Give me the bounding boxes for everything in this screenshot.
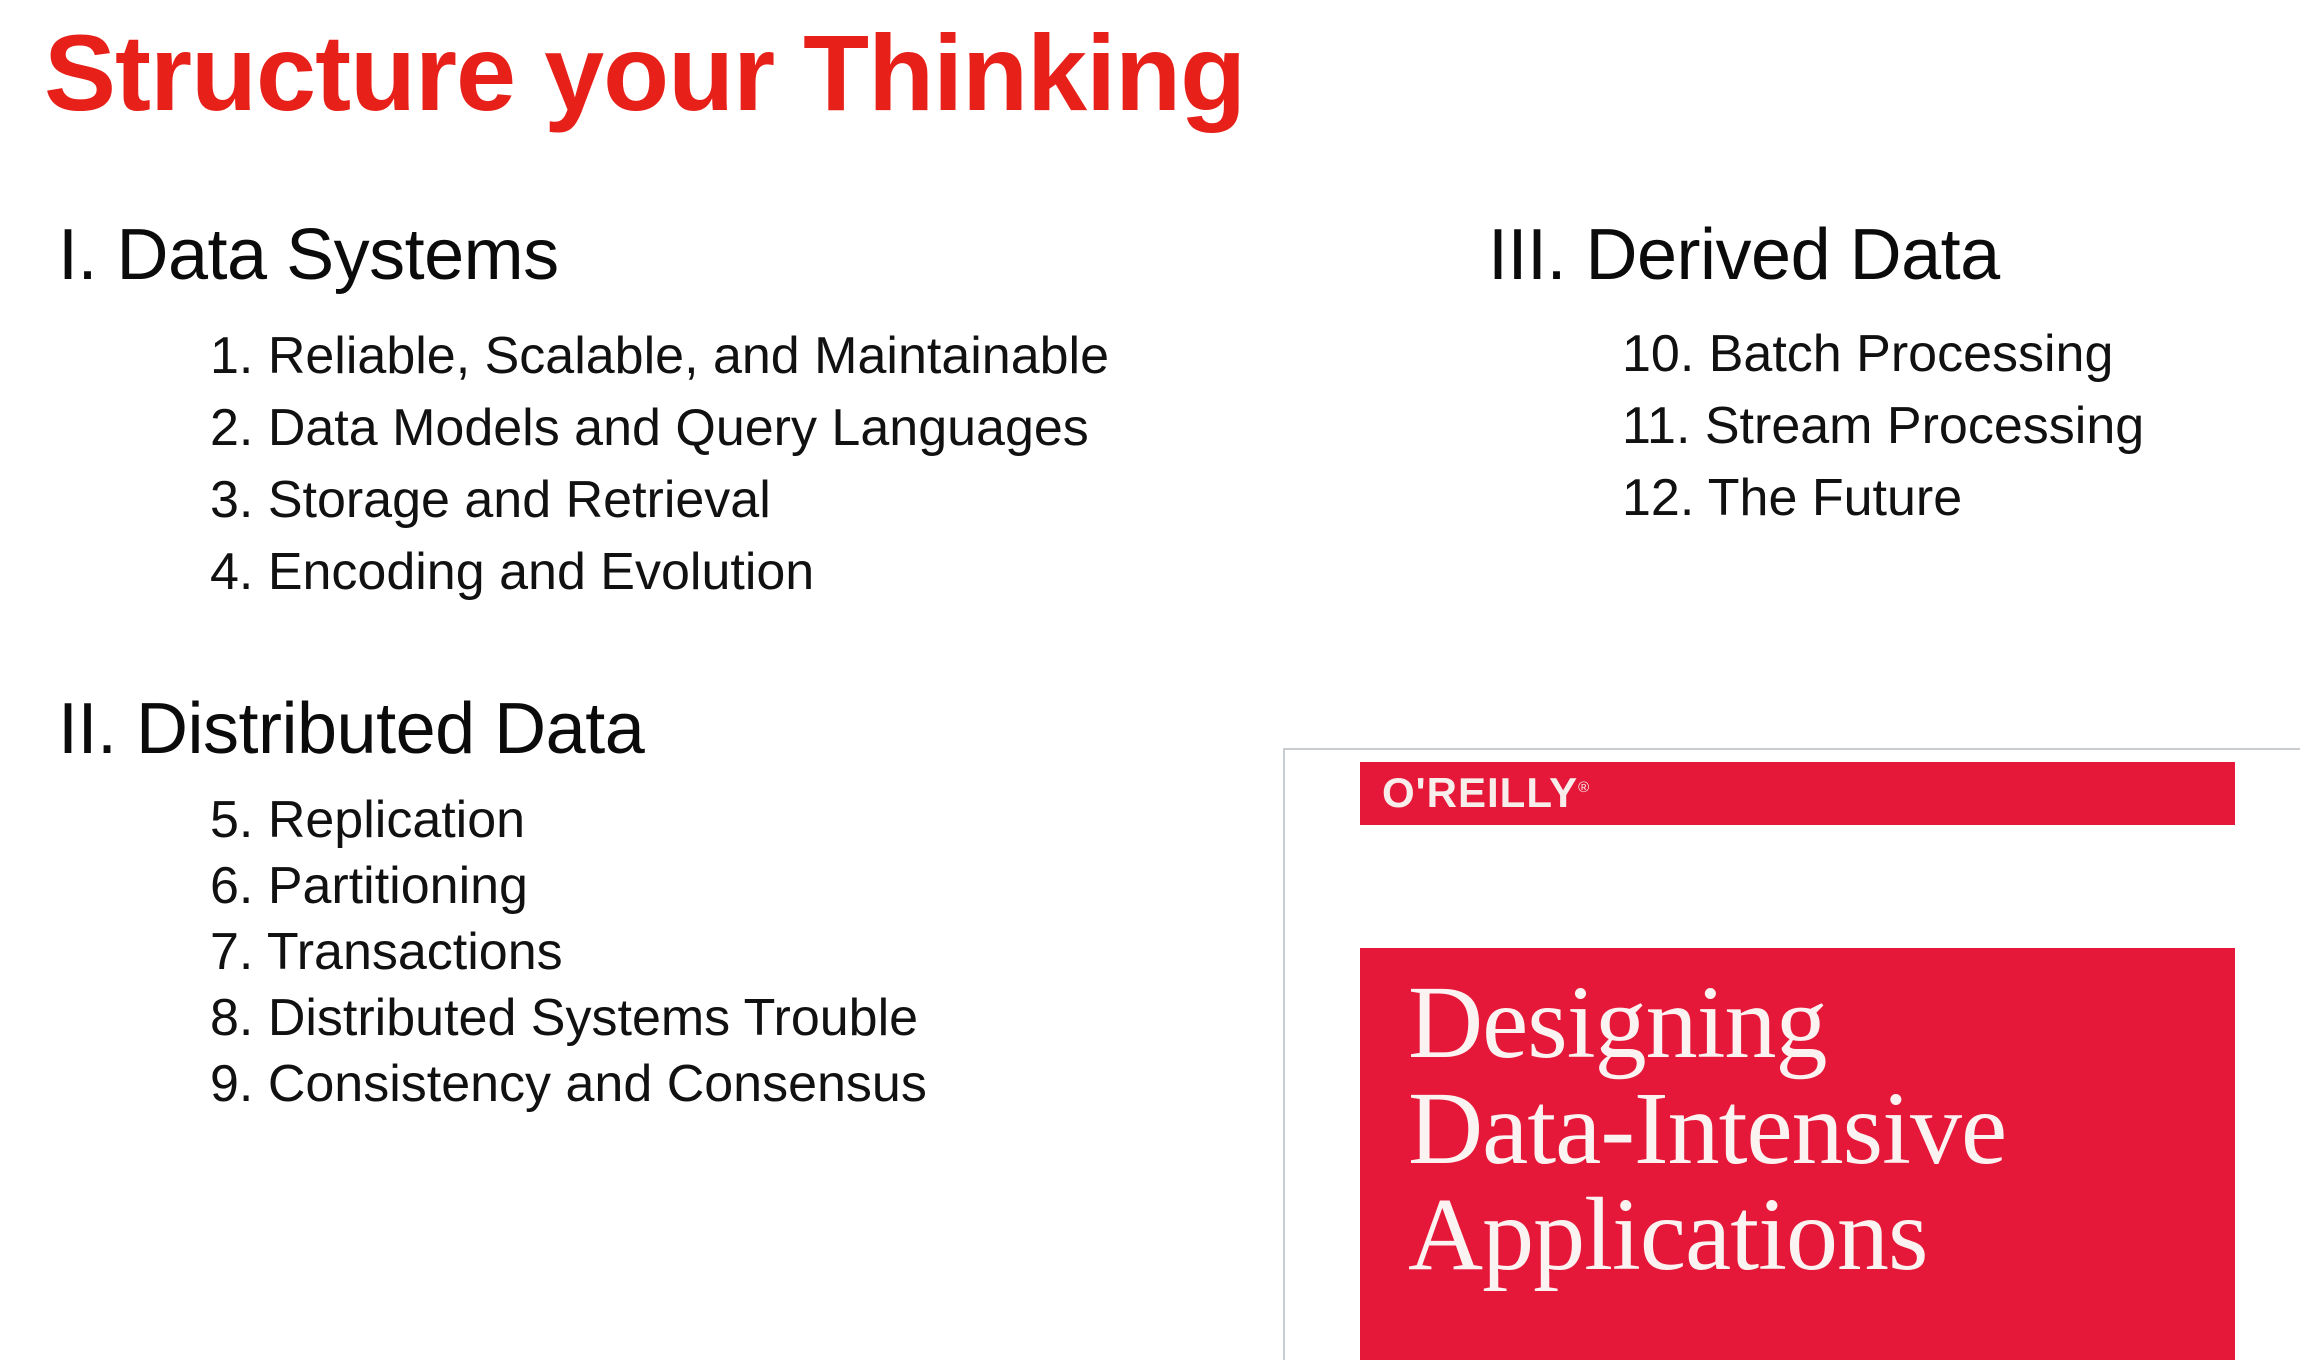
registered-trademark-icon: ® [1578, 779, 1590, 796]
list-item: 3. Storage and Retrieval [210, 472, 1238, 528]
list-item: 11. Stream Processing [1622, 398, 2288, 454]
section-heading-distributed-data: II. Distributed Data [58, 692, 1238, 768]
list-item: 1. Reliable, Scalable, and Maintainable [210, 328, 1238, 384]
list-item: 6. Partitioning [210, 858, 1238, 914]
list-item: 8. Distributed Systems Trouble [210, 990, 1238, 1046]
book-title: Designing Data-Intensive Applications [1408, 970, 2211, 1288]
section-heading-data-systems: I. Data Systems [58, 218, 1238, 294]
book-cover-image: O'REILLY® Designing Data-Intensive Appli… [1283, 748, 2300, 1360]
list-item: 9. Consistency and Consensus [210, 1056, 1238, 1112]
list-item: 7. Transactions [210, 924, 1238, 980]
page-title: Structure your Thinking [44, 14, 1245, 133]
list-item: 10. Batch Processing [1622, 326, 2288, 382]
section-derived-data: III. Derived Data 10. Batch Processing 1… [1488, 218, 2288, 526]
list-item: 2. Data Models and Query Languages [210, 400, 1238, 456]
list-item: 5. Replication [210, 792, 1238, 848]
chapter-list-data-systems: 1. Reliable, Scalable, and Maintainable … [58, 328, 1238, 601]
book-title-line-3: Applications [1408, 1182, 2211, 1288]
section-distributed-data: II. Distributed Data 5. Replication 6. P… [58, 692, 1238, 1112]
list-item: 12. The Future [1622, 470, 2288, 526]
book-title-line-2: Data-Intensive [1408, 1076, 2211, 1182]
left-column: I. Data Systems 1. Reliable, Scalable, a… [58, 218, 1238, 1113]
section-heading-derived-data: III. Derived Data [1488, 218, 2288, 294]
oreilly-band: O'REILLY® [1360, 762, 2235, 825]
list-item: 4. Encoding and Evolution [210, 544, 1238, 600]
slide-canvas: Structure your Thinking I. Data Systems … [0, 0, 2300, 1360]
oreilly-logo: O'REILLY® [1382, 769, 1590, 817]
book-title-line-1: Designing [1408, 970, 2211, 1076]
book-title-block: Designing Data-Intensive Applications [1360, 948, 2235, 1360]
chapter-list-derived-data: 10. Batch Processing 11. Stream Processi… [1488, 326, 2288, 526]
section-data-systems: I. Data Systems 1. Reliable, Scalable, a… [58, 218, 1238, 600]
oreilly-logo-text: O'REILLY [1382, 769, 1578, 816]
right-column: III. Derived Data 10. Batch Processing 1… [1488, 218, 2288, 526]
chapter-list-distributed-data: 5. Replication 6. Partitioning 7. Transa… [58, 792, 1238, 1113]
